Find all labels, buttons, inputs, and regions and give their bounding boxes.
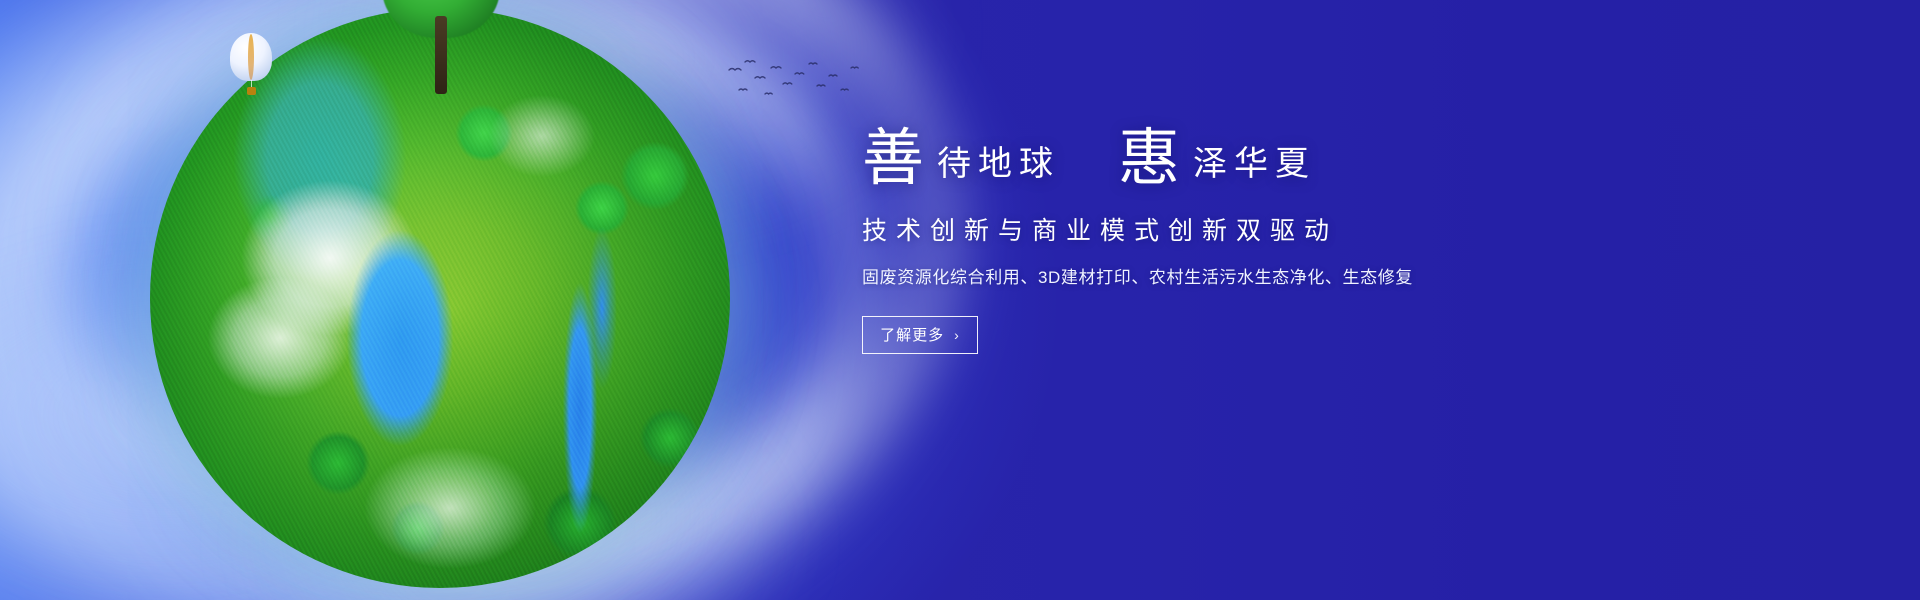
- hero-description: 固废资源化综合利用、3D建材打印、农村生活污水生态净化、生态修复: [862, 266, 1762, 290]
- headline-part1-small: 待地球: [937, 148, 1060, 182]
- tree-icon: [382, 0, 500, 80]
- hero-banner: 善 待地球 惠 泽华夏 技术创新与商业模式创新双驱动 固废资源化综合利用、3D建…: [0, 0, 1920, 600]
- learn-more-label: 了解更多: [880, 324, 944, 345]
- balloon-basket: [247, 87, 256, 95]
- headline-part2-small: 泽华夏: [1193, 148, 1316, 182]
- page-title: 善 待地球 惠 泽华夏: [862, 128, 1762, 190]
- bird-flock-icon: [725, 56, 865, 100]
- learn-more-button[interactable]: 了解更多 ›: [862, 316, 978, 354]
- tree-trunk: [435, 16, 447, 94]
- headline-part2-large: 惠: [1118, 128, 1181, 190]
- hero-copy: 善 待地球 惠 泽华夏 技术创新与商业模式创新双驱动 固废资源化综合利用、3D建…: [862, 128, 1762, 354]
- balloon-stripe: [248, 34, 254, 80]
- chevron-right-icon: ›: [954, 328, 960, 342]
- hot-air-balloon-icon: [230, 33, 272, 97]
- globe-illustration: [150, 8, 730, 588]
- hero-subtitle: 技术创新与商业模式创新双驱动: [862, 216, 1762, 246]
- headline-part1-large: 善: [862, 128, 925, 190]
